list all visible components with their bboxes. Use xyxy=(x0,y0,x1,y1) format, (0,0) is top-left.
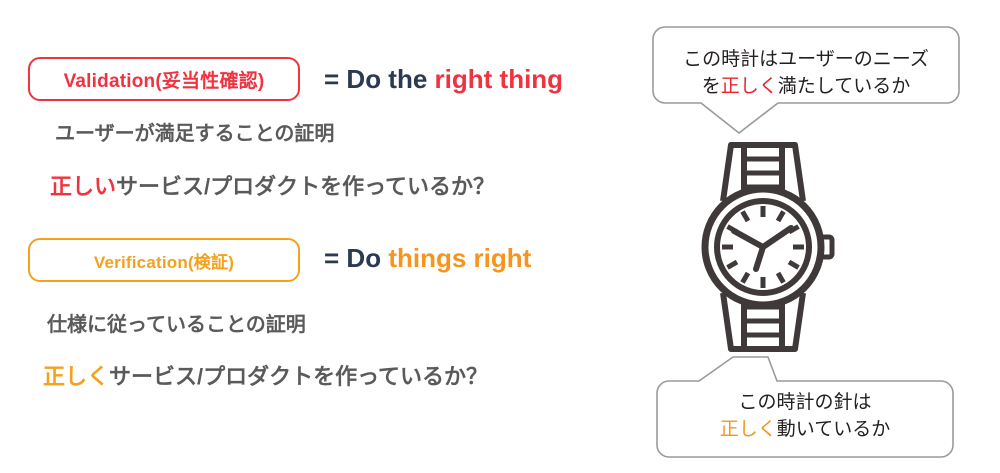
verification-phrase-plain: Do xyxy=(346,243,381,273)
validation-equals-sign: = xyxy=(324,64,339,94)
bubble-bottom-line2-post: 動いているか xyxy=(777,419,890,440)
validation-pill: Validation(妥当性確認) xyxy=(28,57,300,101)
validation-question-rest: サービス/プロダクトを作っているか？ xyxy=(116,174,495,199)
validation-pill-label: Validation(妥当性確認) xyxy=(64,66,265,93)
validation-phrase-highlight: right thing xyxy=(435,64,564,94)
speech-bubble-top-line1: この時計はユーザーのニーズ xyxy=(651,47,961,74)
bubble-bottom-line2-highlight: 正しく xyxy=(720,419,777,440)
verification-proof-line: 仕様に従っていることの証明 xyxy=(47,308,306,337)
slide-canvas: Validation(妥当性確認) = Do the right thing ユ… xyxy=(0,0,1000,473)
verification-pill-label: Verification(検証) xyxy=(94,248,234,273)
verification-pill: Verification(検証) xyxy=(28,238,300,282)
wristwatch-icon xyxy=(690,138,855,356)
speech-bubble-bottom: この時計の針は 正しく動いているか xyxy=(655,355,955,459)
speech-bubble-top-line2: を正しく満たしているか xyxy=(651,74,961,101)
verification-equation: = Do things right xyxy=(324,243,531,274)
validation-equation: = Do the right thing xyxy=(324,64,563,95)
speech-bubble-top-text: この時計はユーザーのニーズ を正しく満たしているか xyxy=(651,47,961,101)
verification-question-rest: サービス/プロダクトを作っているか？ xyxy=(109,364,488,389)
validation-proof-line: ユーザーが満足することの証明 xyxy=(55,117,334,146)
speech-bubble-bottom-text: この時計の針は 正しく動いているか xyxy=(655,390,955,444)
verification-question-highlight: 正しく xyxy=(43,364,109,389)
verification-proof-text: 仕様に従っていることの証明 xyxy=(47,314,306,336)
speech-bubble-top: この時計はユーザーのニーズ を正しく満たしているか xyxy=(651,25,961,137)
speech-bubble-bottom-line2: 正しく動いているか xyxy=(655,417,955,444)
verification-question-line: 正しくサービス/プロダクトを作っているか？ xyxy=(43,359,488,391)
bubble-top-line2-highlight: 正しく xyxy=(721,76,778,97)
bubble-top-line2-pre: を xyxy=(702,76,721,97)
verification-equals-sign: = xyxy=(324,243,339,273)
validation-question-highlight: 正しい xyxy=(50,174,116,199)
verification-phrase-highlight: things right xyxy=(388,243,531,273)
bubble-top-line2-post: 満たしているか xyxy=(778,76,910,97)
validation-question-line: 正しいサービス/プロダクトを作っているか？ xyxy=(50,169,495,201)
validation-phrase-plain: Do the xyxy=(346,64,427,94)
speech-bubble-bottom-line1: この時計の針は xyxy=(655,390,955,417)
validation-proof-text: ユーザーが満足することの証明 xyxy=(55,123,334,145)
